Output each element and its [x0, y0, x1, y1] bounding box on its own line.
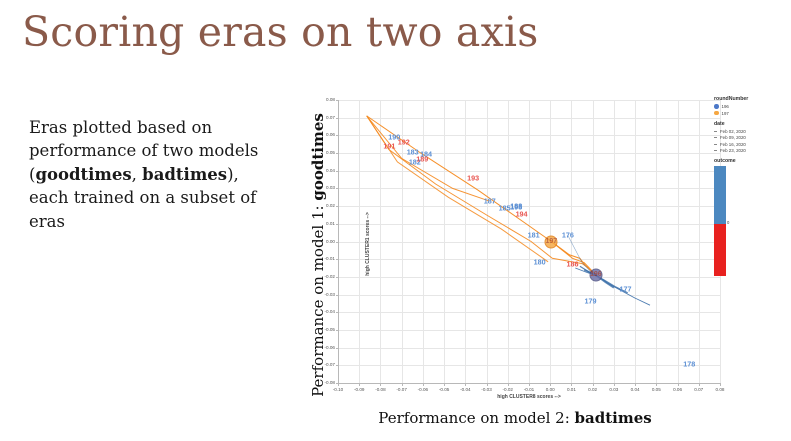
x-tick-mark	[614, 383, 615, 386]
legend-date-tick	[714, 137, 717, 138]
legend-item-label: Feb 23, 2020	[720, 148, 746, 153]
x-tick-mark	[465, 383, 466, 386]
data-point-label: 187	[484, 197, 496, 206]
y-tick-label: -0.02	[295, 274, 335, 279]
legend-roundnumber-items: 196197	[714, 104, 788, 116]
y-tick-label: 0.04	[295, 168, 335, 173]
y-tick-label: 0.03	[295, 185, 335, 190]
y-tick-label: 0.00	[295, 239, 335, 244]
legend-item-date[interactable]: Feb 16, 2020	[714, 142, 788, 147]
plot-area: 1901921911831841821891931871851881981941…	[338, 100, 720, 383]
data-point-label: 180	[534, 258, 546, 267]
y-tick-label: 0.07	[295, 115, 335, 120]
y-tick-mark	[336, 259, 339, 260]
x-axis-caption: Performance on model 2: badtimes	[300, 409, 730, 427]
colorbar-zero-label: 0	[727, 220, 729, 225]
outcome-colorbar: 0	[714, 166, 726, 276]
data-point-label: 181	[528, 231, 540, 240]
legend-title-roundnumber: roundNumber	[714, 96, 788, 102]
body-text-mid: ,	[132, 165, 143, 184]
x-tick-mark	[571, 383, 572, 386]
y-tick-mark	[336, 277, 339, 278]
y-tick-mark	[336, 242, 339, 243]
y-tick-label: 0.08	[295, 97, 335, 102]
y-tick-label: -0.04	[295, 309, 335, 314]
data-point-label: 189	[416, 154, 428, 163]
data-point-label: 192	[398, 138, 410, 147]
data-point-label: 186	[567, 260, 579, 269]
plot-frame: 1901921911831841821891931871851881981941…	[338, 100, 720, 383]
legend-panel: roundNumber 196197 date Feb 02, 2020Feb …	[714, 96, 788, 276]
body-text-bold-badtimes: badtimes	[142, 165, 227, 184]
y-tick-mark	[336, 118, 339, 119]
y-tick-label: 0.06	[295, 132, 335, 137]
legend-date-items: Feb 02, 2020Feb 09, 2020Feb 16, 2020Feb …	[714, 129, 788, 154]
legend-title-outcome: outcome	[714, 158, 788, 164]
legend-item-label: Feb 02, 2020	[720, 129, 746, 134]
y-tick-mark	[336, 100, 339, 101]
y-tick-mark	[336, 365, 339, 366]
y-tick-mark	[336, 312, 339, 313]
legend-color-swatch	[714, 104, 719, 109]
colorbar-low-segment	[714, 224, 726, 276]
y-tick-mark	[336, 295, 339, 296]
y-tick-label: -0.03	[295, 292, 335, 297]
x-tick-mark	[635, 383, 636, 386]
x-tick-mark	[699, 383, 700, 386]
legend-item-date[interactable]: Feb 09, 2020	[714, 135, 788, 140]
x-tick-mark	[444, 383, 445, 386]
y-tick-mark	[336, 330, 339, 331]
legend-color-swatch	[714, 111, 719, 116]
data-point-label: 193	[467, 173, 479, 182]
y-tick-mark	[336, 224, 339, 225]
x-tick-mark	[720, 383, 721, 386]
data-point-label: 191	[383, 141, 395, 150]
legend-item-roundnumber[interactable]: 197	[714, 111, 788, 116]
y-axis-inner-label: high CLUSTER1 scores -->	[365, 184, 371, 304]
y-tick-label: -0.06	[295, 345, 335, 350]
scatter-chart: Performance on model 1: goodtimes 190192…	[300, 95, 730, 405]
y-tick-mark	[336, 153, 339, 154]
x-tick-mark	[423, 383, 424, 386]
x-tick-mark	[508, 383, 509, 386]
highlighted-marker[interactable]: 196	[589, 268, 602, 281]
data-point-label: 179	[585, 296, 597, 305]
x-tick-mark	[656, 383, 657, 386]
x-axis-caption-regular: Performance on model 2:	[378, 409, 574, 427]
y-tick-label: -0.08	[295, 380, 335, 385]
legend-title-date: date	[714, 121, 788, 127]
body-paragraph: Eras plotted based on performance of two…	[29, 116, 269, 233]
data-point-label: 185	[499, 204, 511, 213]
highlighted-marker-label: 196	[590, 271, 602, 278]
y-tick-label: 0.02	[295, 203, 335, 208]
x-axis-inner-label: high CLUSTER8 scores -->	[338, 394, 720, 400]
x-tick-label: 0.08	[705, 387, 735, 392]
x-tick-mark	[338, 383, 339, 386]
legend-item-date[interactable]: Feb 23, 2020	[714, 148, 788, 153]
data-point-label: 194	[516, 209, 528, 218]
x-tick-mark	[593, 383, 594, 386]
legend-date-tick	[714, 144, 717, 145]
y-tick-label: -0.01	[295, 256, 335, 261]
x-tick-mark	[678, 383, 679, 386]
data-point-label: 178	[683, 359, 695, 368]
x-tick-mark	[380, 383, 381, 386]
legend-item-date[interactable]: Feb 02, 2020	[714, 129, 788, 134]
y-tick-mark	[336, 171, 339, 172]
x-tick-mark	[359, 383, 360, 386]
body-text-bold-goodtimes: goodtimes	[35, 165, 131, 184]
legend-item-label: 196	[722, 104, 729, 109]
y-tick-mark	[336, 135, 339, 136]
page-title: Scoring eras on two axis	[22, 8, 538, 56]
data-point-label: 176	[562, 231, 574, 240]
legend-date-tick	[714, 131, 717, 132]
y-tick-label: -0.07	[295, 362, 335, 367]
x-tick-mark	[550, 383, 551, 386]
legend-group-date: date Feb 02, 2020Feb 09, 2020Feb 16, 202…	[714, 121, 788, 154]
x-tick-mark	[529, 383, 530, 386]
y-tick-label: -0.05	[295, 327, 335, 332]
y-tick-mark	[336, 188, 339, 189]
legend-date-tick	[714, 150, 717, 151]
y-tick-label: 0.01	[295, 221, 335, 226]
y-tick-label: 0.05	[295, 150, 335, 155]
legend-item-roundnumber[interactable]: 196	[714, 104, 788, 109]
colorbar-high-segment	[714, 166, 726, 224]
highlighted-marker[interactable]: 197	[545, 235, 558, 248]
highlighted-marker-label: 197	[545, 238, 557, 245]
y-tick-mark	[336, 206, 339, 207]
legend-group-outcome: outcome 0	[714, 158, 788, 276]
legend-item-label: Feb 09, 2020	[720, 135, 746, 140]
legend-item-label: 197	[722, 111, 729, 116]
x-axis-caption-bold: badtimes	[575, 409, 652, 427]
legend-group-roundnumber: roundNumber 196197	[714, 96, 788, 116]
x-tick-mark	[487, 383, 488, 386]
data-point-label: 177	[620, 285, 632, 294]
legend-item-label: Feb 16, 2020	[720, 142, 746, 147]
y-tick-mark	[336, 348, 339, 349]
y-axis-caption-regular: Performance on model 1:	[309, 201, 327, 397]
x-tick-mark	[402, 383, 403, 386]
